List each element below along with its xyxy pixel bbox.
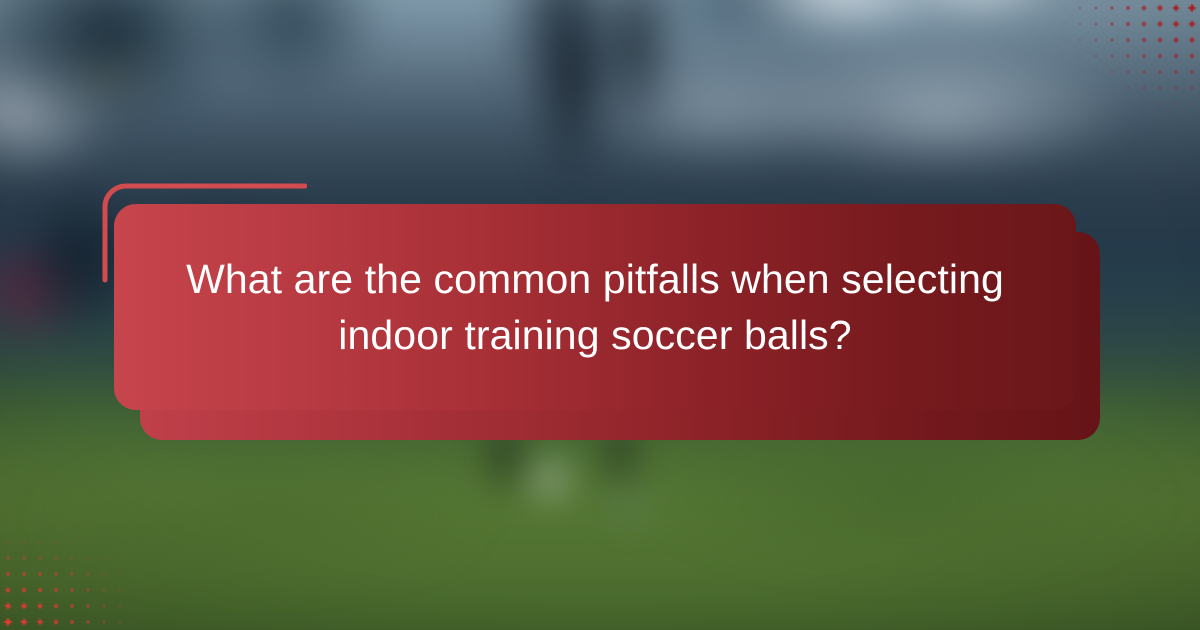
- question-line-1: What are the common pitfalls when select…: [186, 256, 1004, 302]
- question-card-content: What are the common pitfalls when select…: [114, 204, 1076, 410]
- question-line-2: indoor training soccer balls?: [338, 312, 851, 358]
- social-card-canvas: What are the common pitfalls when select…: [0, 0, 1200, 630]
- question-headline: What are the common pitfalls when select…: [186, 251, 1004, 363]
